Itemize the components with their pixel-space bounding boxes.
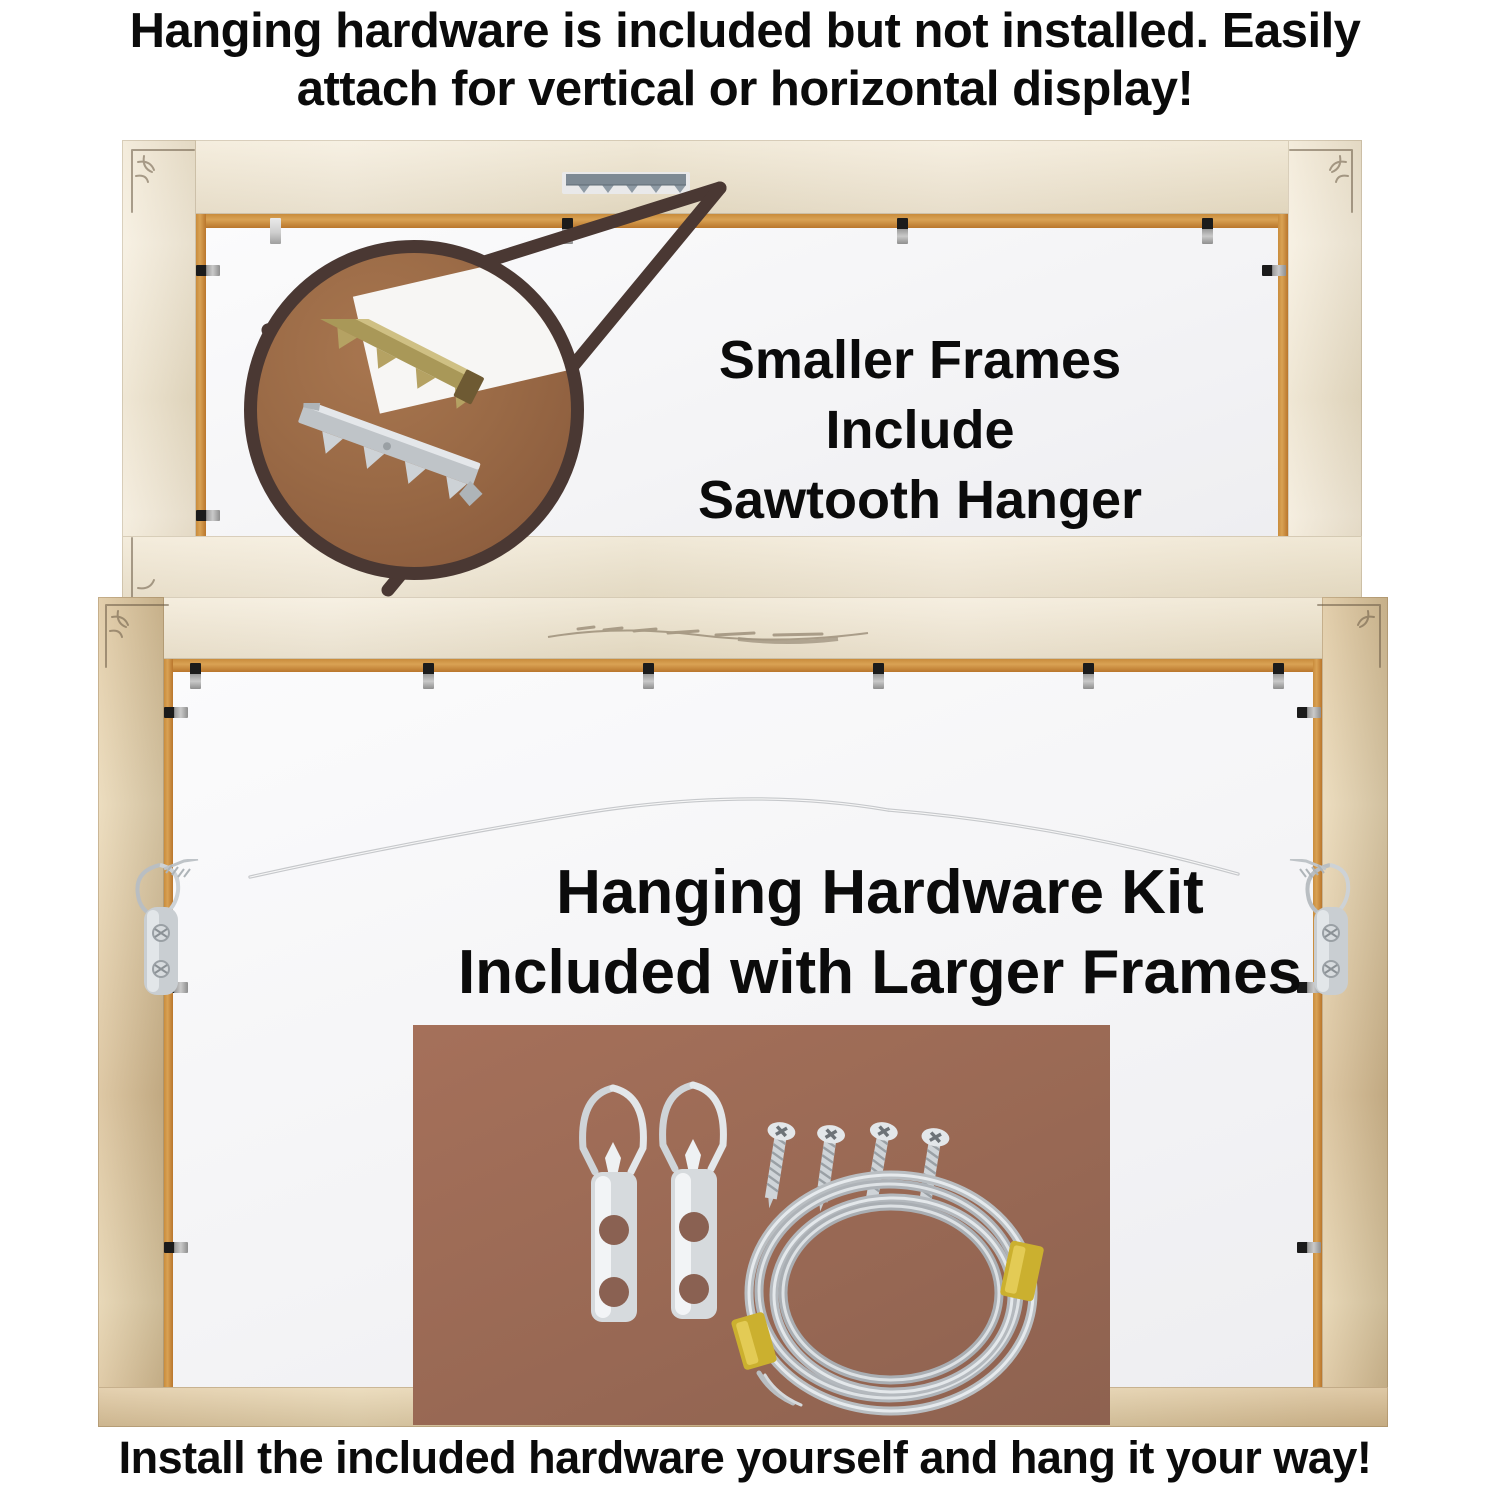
large-backing-clip-1: [190, 663, 201, 689]
sawtooth-hanger-brass: [293, 319, 493, 409]
large-corner-distress-mark-top-right: [1314, 601, 1384, 671]
kit-coiled-wire: [731, 1165, 1061, 1425]
large-frame-rail-left: [98, 597, 164, 1427]
sawtooth-hanger-silver: [277, 403, 497, 513]
corner-distress-mark-top-right: [1286, 146, 1356, 216]
frame-inner-lip-right: [1278, 214, 1288, 536]
infographic-canvas: Hanging hardware is included but not ins…: [0, 0, 1490, 1500]
large-backing-clip-right-3: [1297, 1242, 1321, 1253]
large-frame-label: Hanging Hardware Kit Included with Large…: [300, 853, 1460, 1013]
large-backing-clip-2: [423, 663, 434, 689]
d-ring-hanger-left: [120, 859, 210, 1009]
hardware-kit-photo: [413, 1025, 1110, 1425]
large-corner-distress-mark-top-left: [102, 601, 172, 671]
backing-clip-3: [897, 218, 908, 244]
headline-text: Hanging hardware is included but not ins…: [0, 2, 1490, 118]
large-backing-clip-5: [1083, 663, 1094, 689]
headline-line-2: attach for vertical or horizontal displa…: [10, 60, 1480, 118]
headline-line-1: Hanging hardware is included but not ins…: [10, 2, 1480, 60]
footer-caption-text: Install the included hardware yourself a…: [0, 1432, 1490, 1484]
backing-clip-4: [1202, 218, 1213, 244]
large-frame-inner-lip-top: [164, 659, 1322, 672]
magnifier-circle: [244, 240, 584, 580]
large-backing-clip-3: [643, 663, 654, 689]
large-backing-clip-6: [1273, 663, 1284, 689]
top-rail-distress-texture: [538, 615, 938, 649]
large-frame-label-line-1: Hanging Hardware Kit: [300, 853, 1460, 933]
large-backing-clip-left-3: [164, 1242, 188, 1253]
large-frame-label-line-2: Included with Larger Frames: [300, 933, 1460, 1013]
backing-clip-right-side: [1262, 265, 1286, 276]
sawtooth-callout: [228, 168, 658, 588]
large-backing-clip-4: [873, 663, 884, 689]
